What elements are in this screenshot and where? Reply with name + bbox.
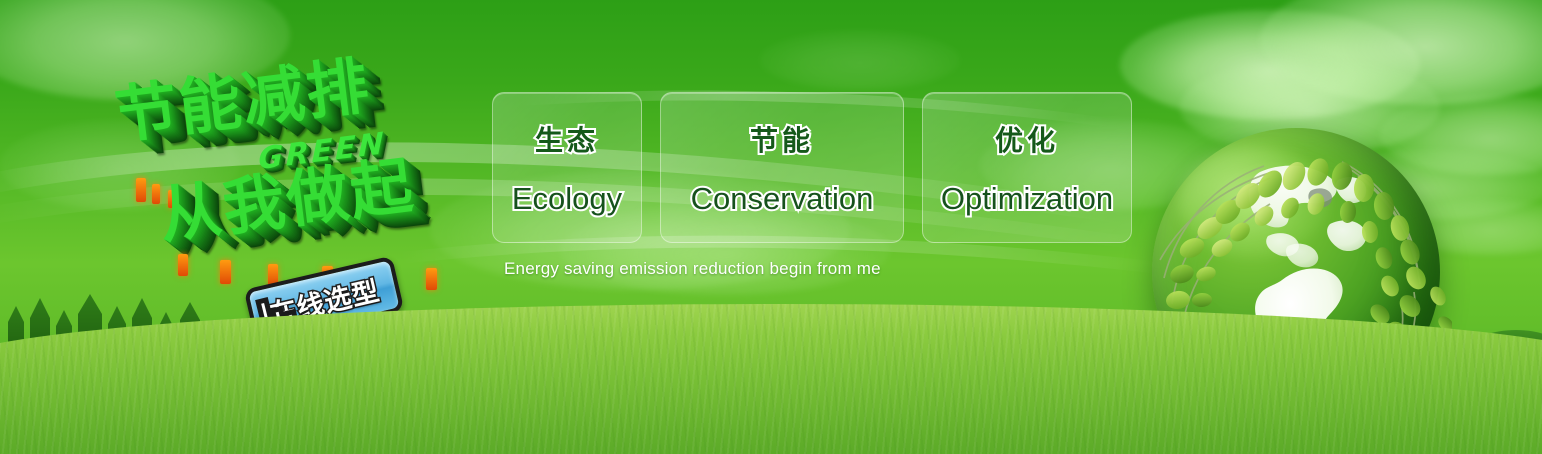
feature-card-conservation-en: Conservation: [691, 181, 874, 217]
feature-card-list: 生态 Ecology 节能 Conservation 优化 Optimizati…: [492, 92, 1132, 243]
leafy-earth-globe: [1152, 128, 1452, 428]
feature-card-optimization[interactable]: 优化 Optimization: [922, 92, 1132, 243]
cloud-icon: [1260, 0, 1542, 105]
ember-glow-icon: [220, 260, 231, 284]
cloud-icon: [760, 30, 960, 90]
feature-card-conservation[interactable]: 节能 Conservation: [660, 92, 904, 243]
feature-card-ecology[interactable]: 生态 Ecology: [492, 92, 642, 243]
globe-continents-and-foliage: [1152, 128, 1452, 428]
ember-glow-icon: [426, 268, 437, 290]
feature-card-ecology-cn: 生态: [535, 119, 599, 159]
headline-line-2-text: 从我做起: [155, 149, 418, 253]
ember-glow-icon: [178, 254, 188, 276]
cloud-icon: [1120, 10, 1420, 120]
hand-pointer-icon: [236, 284, 320, 380]
banner-subtitle: Energy saving emission reduction begin f…: [504, 259, 881, 279]
ember-glow-icon: [136, 178, 146, 202]
feature-card-optimization-en: Optimization: [941, 181, 1113, 217]
feature-card-optimization-cn: 优化: [995, 119, 1059, 159]
online-selection-cta[interactable]: 在线选型: [248, 272, 423, 344]
feature-card-conservation-cn: 节能: [750, 119, 814, 159]
feature-card-ecology-en: Ecology: [512, 181, 622, 217]
headline-line-2: 从我做起: [153, 135, 418, 256]
eco-banner: 节能减排 GREEN 从我做起 在线选型 生态 Ecology 节能: [0, 0, 1542, 454]
headline-artwork: 节能减排 GREEN 从我做起: [100, 38, 490, 270]
